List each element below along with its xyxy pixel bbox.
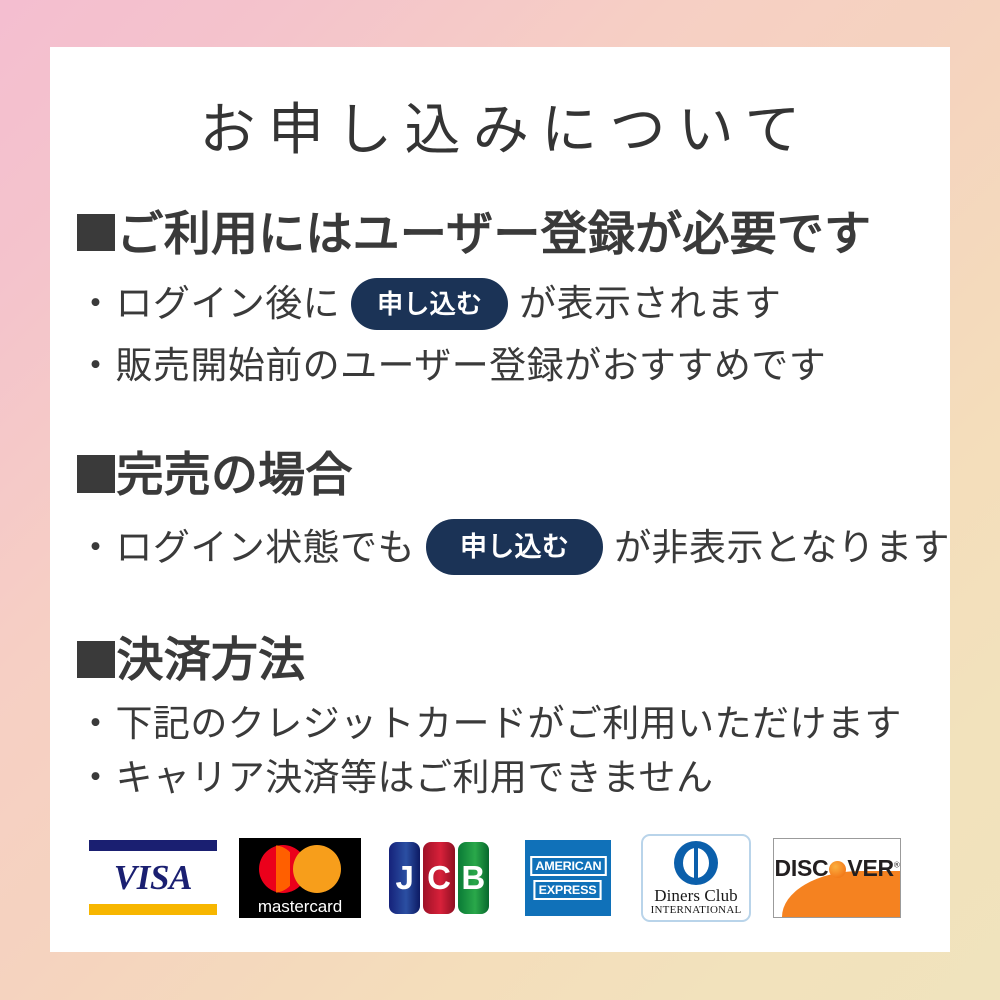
bullet-dot-icon: ・: [77, 529, 114, 566]
apply-button[interactable]: 申し込む: [351, 278, 508, 330]
bullet-text: 販売開始前のユーザー登録がおすすめです: [115, 347, 826, 384]
jcb-letter-j: J: [389, 842, 420, 914]
section-heading: 決済方法: [77, 631, 950, 688]
mastercard-logo-icon: mastercard: [239, 838, 361, 918]
bullet-text-after: が表示されます: [519, 285, 781, 322]
discover-orange-o-icon: [829, 861, 846, 878]
discover-word-start: DISC: [775, 855, 829, 881]
credit-card-logo-row: VISA mastercard J C B: [77, 834, 950, 922]
diners-club-name: Diners Club: [654, 887, 738, 905]
amex-blue-square: AMERICAN EXPRESS: [525, 840, 611, 916]
discover-word-end: VER: [847, 855, 893, 881]
bullet-text-after: が非表示となります: [614, 529, 950, 566]
bullet-text: キャリア決済等はご利用できません: [115, 759, 713, 796]
mastercard-circles: [259, 845, 341, 893]
diners-club-logo-icon: Diners Club INTERNATIONAL: [641, 834, 751, 922]
mastercard-wordmark: mastercard: [258, 898, 342, 915]
bullet-line: ・ キャリア決済等はご利用できません: [77, 759, 950, 796]
square-bullet-icon: [77, 214, 115, 252]
mastercard-overlap: [276, 845, 290, 893]
section-heading: 完売の場合: [77, 446, 950, 503]
bullet-line: ・ 販売開始前のユーザー登録がおすすめです: [77, 347, 950, 384]
visa-wordmark: VISA: [89, 860, 217, 895]
content-card: お申し込みについて ご利用にはユーザー登録が必要です ・ ログイン後に 申し込む…: [50, 47, 950, 952]
diners-club-subtitle: INTERNATIONAL: [651, 904, 742, 916]
page-title: お申し込みについて: [50, 47, 950, 161]
bullet-dot-icon: ・: [77, 285, 114, 322]
bullet-text-before: ログイン状態でも: [115, 529, 415, 566]
bullet-text: 下記のクレジットカードがご利用いただけます: [115, 705, 901, 742]
discover-wordmark: DISCVER®: [775, 857, 900, 880]
section-sold-out: 完売の場合 ・ ログイン状態でも 申し込む が非表示となります: [77, 446, 950, 575]
square-bullet-icon: [77, 455, 115, 493]
visa-top-bar: [89, 840, 217, 851]
amex-logo-icon: AMERICAN EXPRESS: [517, 838, 619, 918]
bullet-line: ・ ログイン後に 申し込む が表示されます: [77, 278, 950, 330]
gradient-frame: お申し込みについて ご利用にはユーザー登録が必要です ・ ログイン後に 申し込む…: [0, 0, 1000, 1000]
section-heading: ご利用にはユーザー登録が必要です: [77, 205, 950, 262]
square-bullet-icon: [77, 641, 115, 679]
bullet-dot-icon: ・: [77, 347, 114, 384]
jcb-letter-c: C: [423, 842, 454, 914]
section-heading-text: 決済方法: [116, 633, 305, 686]
amex-line-1: AMERICAN: [530, 856, 606, 876]
bullet-line: ・ 下記のクレジットカードがご利用いただけます: [77, 705, 950, 742]
bullet-text-before: ログイン後に: [115, 285, 340, 322]
amex-line-2: EXPRESS: [534, 880, 602, 900]
diners-club-mark: [674, 841, 718, 885]
visa-logo-icon: VISA: [89, 838, 217, 918]
bullet-dot-icon: ・: [77, 705, 114, 742]
section-heading-text: 完売の場合: [116, 448, 352, 501]
bullet-dot-icon: ・: [77, 759, 114, 796]
section-payment-methods: 決済方法 ・ 下記のクレジットカードがご利用いただけます ・ キャリア決済等はご…: [77, 631, 950, 921]
content-body: ご利用にはユーザー登録が必要です ・ ログイン後に 申し込む が表示されます ・…: [50, 205, 950, 922]
discover-registered-mark: ®: [894, 860, 900, 869]
jcb-logo-icon: J C B: [383, 838, 495, 918]
bullet-line: ・ ログイン状態でも 申し込む が非表示となります: [77, 519, 950, 575]
discover-logo-icon: DISCVER®: [773, 838, 901, 918]
section-heading-text: ご利用にはユーザー登録が必要です: [116, 207, 871, 260]
mastercard-yellow-circle: [293, 845, 341, 893]
section-user-registration: ご利用にはユーザー登録が必要です ・ ログイン後に 申し込む が表示されます ・…: [77, 205, 950, 384]
visa-bottom-bar: [89, 904, 217, 915]
apply-button[interactable]: 申し込む: [426, 519, 603, 575]
jcb-letter-b: B: [458, 842, 489, 914]
